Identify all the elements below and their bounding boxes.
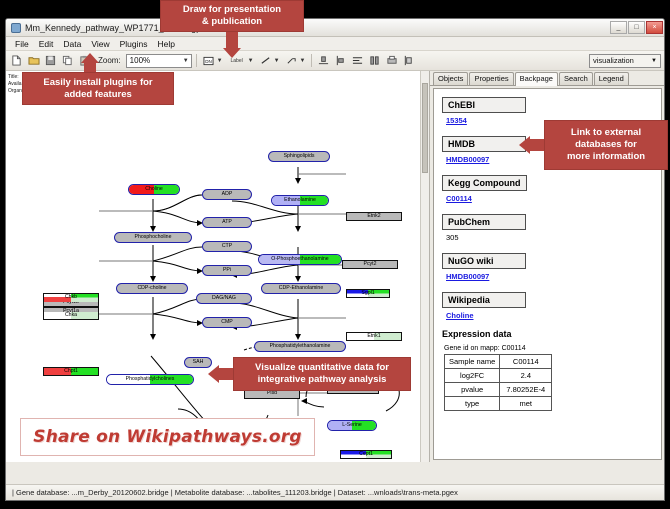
node-label: CTP	[222, 244, 232, 249]
align-left-icon[interactable]	[333, 53, 348, 68]
tab-properties[interactable]: Properties	[469, 72, 513, 85]
scrollbar-thumb[interactable]	[422, 83, 428, 173]
node-label: ADP	[222, 192, 233, 197]
order-icon[interactable]	[401, 53, 416, 68]
chevron-down-icon-visualization: ▼	[651, 58, 657, 64]
node-o-phosphoethanolamine[interactable]: O-Phosphoethanolamine	[258, 254, 342, 265]
node-cept1[interactable]: Cept1	[340, 450, 392, 459]
node-chkb[interactable]: Chkb	[43, 293, 99, 302]
callout-line-1: Visualize quantitative data for	[255, 362, 389, 374]
tab-backpage[interactable]: Backpage	[515, 72, 558, 86]
toolbar: Zoom: 100% ▼ DN ▼ Label ▼ ▼ ▼	[6, 51, 664, 71]
callout-line-1: Link to external	[571, 127, 641, 139]
node-cdp-choline[interactable]: CDP-choline	[116, 283, 188, 294]
callout-draw-arrow	[223, 48, 241, 58]
node-label: SAH	[193, 360, 204, 365]
cell-key: type	[445, 397, 500, 411]
callout-line-2: integrative pathway analysis	[258, 374, 387, 386]
node-label: Chkb	[65, 295, 77, 300]
align-bottom-icon[interactable]	[316, 53, 331, 68]
side-panel-tabs: Objects Properties Backpage Search Legen…	[430, 71, 664, 86]
node-cmp[interactable]: CMP	[202, 317, 252, 328]
node-label: CDP-Ethanolamine	[279, 286, 323, 291]
node-chka[interactable]: Chka	[43, 311, 99, 320]
zoom-combo[interactable]: 100% ▼	[126, 54, 192, 68]
interaction-icon[interactable]	[284, 53, 299, 68]
visualization-value: visualization	[593, 56, 634, 65]
svg-text:DN: DN	[205, 58, 212, 63]
node-phosphocholine[interactable]: Phosphocholine	[114, 232, 192, 243]
node-label: L-Serine	[342, 423, 362, 428]
callout-visualize-data: Visualize quantitative data for integrat…	[233, 357, 411, 391]
node-etnk2[interactable]: Etnk2	[346, 212, 402, 221]
menu-edit[interactable]: Edit	[34, 39, 59, 49]
table-row: Sample name C00114	[445, 355, 552, 369]
toolbar-separator-2	[311, 54, 312, 67]
cell-value: 7.80252E-4	[500, 383, 552, 397]
callout-line-2: added features	[64, 89, 132, 101]
node-cdp-ethanolamine[interactable]: CDP-Ethanolamine	[261, 283, 341, 294]
node-label: Phosphatidylethanolamine	[270, 344, 331, 349]
line-dropdown-icon[interactable]: ▼	[274, 58, 280, 64]
wikipedia-header: Wikipedia	[442, 292, 526, 308]
menu-plugins[interactable]: Plugins	[115, 39, 153, 49]
table-row: log2FC 2.4	[445, 369, 552, 383]
node-label: Etnk2	[367, 214, 380, 219]
chebi-header: ChEBI	[442, 97, 526, 113]
callout-install-plugins: Easily install plugins for added feature…	[22, 72, 174, 105]
node-l-serine-right[interactable]: L-Serine	[327, 420, 377, 431]
datanode-icon[interactable]: DN	[201, 53, 216, 68]
tab-search[interactable]: Search	[559, 72, 593, 85]
callout-line-2: databases for	[575, 139, 637, 151]
callout-share-wikipathways: Share on Wikipathways.org	[20, 418, 315, 456]
node-sphingolipids[interactable]: Sphingolipids	[268, 151, 330, 162]
zoom-label: Zoom:	[98, 56, 121, 65]
node-label: PPi	[223, 268, 231, 273]
node-choline-top[interactable]: Choline	[128, 184, 180, 195]
distribute-icon[interactable]	[367, 53, 382, 68]
pathway-canvas[interactable]: Title: Availa Organi	[6, 71, 430, 462]
cell-key: Sample name	[445, 355, 500, 369]
zoom-value: 100%	[130, 56, 150, 65]
cell-value: C00114	[500, 355, 552, 369]
interaction-dropdown-icon[interactable]: ▼	[300, 58, 306, 64]
node-label: Etnk1	[367, 334, 380, 339]
menu-file[interactable]: File	[10, 39, 34, 49]
visualization-combo[interactable]: visualization ▼	[589, 54, 661, 68]
cell-value: 2.4	[500, 369, 552, 383]
callout-plugins-arrow	[81, 53, 99, 63]
nugo-wiki-link[interactable]: HMDB00097	[446, 272, 655, 281]
node-atp[interactable]: ATP	[202, 217, 252, 228]
callout-external-databases: Link to external databases for more info…	[544, 120, 668, 170]
window-controls: _ □ ×	[610, 21, 664, 34]
table-row: pvalue 7.80252E-4	[445, 383, 552, 397]
node-etnk1[interactable]: Etnk1	[346, 332, 402, 341]
canvas-vertical-scrollbar[interactable]	[420, 71, 429, 462]
node-chpt1[interactable]: Chpt1	[43, 367, 99, 376]
node-phosphatidylethanolamine[interactable]: Phosphatidylethanolamine	[254, 341, 346, 352]
line-icon[interactable]	[258, 53, 273, 68]
stack-icon[interactable]	[350, 53, 365, 68]
new-file-icon[interactable]	[9, 53, 24, 68]
datanode-dropdown-icon[interactable]: ▼	[217, 58, 223, 64]
callout-line-1: Easily install plugins for	[43, 77, 152, 89]
chevron-down-icon: ▼	[183, 58, 189, 64]
menu-view[interactable]: View	[86, 39, 114, 49]
label-dropdown-icon[interactable]: ▼	[248, 58, 254, 64]
node-label: Choline	[145, 187, 163, 192]
node-label: Phosphatidylcholines	[126, 377, 175, 382]
menu-help[interactable]: Help	[153, 39, 180, 49]
pubchem-value: 305	[446, 233, 655, 242]
callout-line-2: & publication	[202, 16, 262, 28]
callout-line-3: more information	[567, 151, 645, 163]
node-label: Chpt1	[64, 369, 78, 374]
expression-data-table: Sample name C00114 log2FC 2.4 pvalue 7.8…	[444, 354, 552, 411]
kegg-compound-link[interactable]: C00114	[446, 194, 655, 203]
kegg-compound-header: Kegg Compound	[442, 175, 527, 191]
node-label: Sphingolipids	[284, 154, 315, 159]
status-text: | Gene database: ...m_Derby_20120602.bri…	[12, 488, 458, 497]
node-label: Sgpl1	[361, 291, 374, 296]
cell-key: pvalue	[445, 383, 500, 397]
callout-visualize-arrow	[208, 365, 219, 383]
cell-value: met	[500, 397, 552, 411]
wikipedia-link[interactable]: Choline	[446, 311, 655, 320]
node-label: O-Phosphoethanolamine	[271, 257, 328, 262]
node-label: Ethanolamine	[284, 198, 316, 203]
node-phosphatidylcholines[interactable]: Phosphatidylcholines	[106, 374, 194, 385]
node-label: CMP	[221, 320, 233, 325]
callout-db-arrow	[519, 136, 530, 154]
node-pcyt2[interactable]: Pcyt2	[342, 260, 398, 269]
node-label: ATP	[222, 220, 232, 225]
node-label: DAG/NAG	[212, 296, 236, 301]
node-dagnag[interactable]: DAG/NAG	[196, 293, 252, 304]
table-row: type met	[445, 397, 552, 411]
node-label: CDP-choline	[137, 286, 166, 291]
expression-data-title: Expression data	[442, 329, 655, 339]
cell-key: log2FC	[445, 369, 500, 383]
node-label: Pisd	[267, 391, 277, 396]
menu-data[interactable]: Data	[58, 39, 86, 49]
tab-legend[interactable]: Legend	[594, 72, 629, 85]
open-folder-icon[interactable]	[26, 53, 41, 68]
nugo-wiki-header: NuGO wiki	[442, 253, 526, 269]
node-ctp[interactable]: CTP	[202, 241, 252, 252]
node-label: Cept1	[359, 452, 373, 457]
hmdb-header: HMDB	[442, 136, 526, 152]
node-ppi[interactable]: PPi	[202, 265, 252, 276]
node-label: Phosphocholine	[135, 235, 172, 240]
status-bar: | Gene database: ...m_Derby_20120602.bri…	[6, 484, 664, 500]
toolbar-separator	[196, 54, 197, 67]
print-icon[interactable]	[384, 53, 399, 68]
minimize-button[interactable]: _	[610, 21, 627, 34]
close-button[interactable]: ×	[646, 21, 663, 34]
pubchem-header: PubChem	[442, 214, 526, 230]
tab-objects[interactable]: Objects	[433, 72, 468, 85]
callout-draw-for-publication: Draw for presentation & publication	[160, 0, 304, 32]
menu-bar: File Edit Data View Plugins Help	[6, 37, 664, 51]
node-ethanolamine-top[interactable]: Ethanolamine	[271, 195, 329, 206]
node-sgpl1[interactable]: Sgpl1	[346, 289, 390, 298]
node-adp[interactable]: ADP	[202, 189, 252, 200]
callout-line-1: Draw for presentation	[183, 4, 281, 16]
save-icon[interactable]	[43, 53, 58, 68]
gene-id-note: Gene id on mapp: C00114	[444, 345, 655, 352]
title-bar: Mm_Kennedy_pathway_WP1771_45176.gpml _ □…	[6, 19, 664, 37]
node-label: Chka	[65, 313, 77, 318]
node-label: Pcyt2	[364, 262, 377, 267]
share-text: Share on Wikipathways.org	[33, 427, 301, 447]
copy-icon[interactable]	[60, 53, 75, 68]
maximize-button[interactable]: □	[628, 21, 645, 34]
app-icon	[11, 23, 21, 33]
